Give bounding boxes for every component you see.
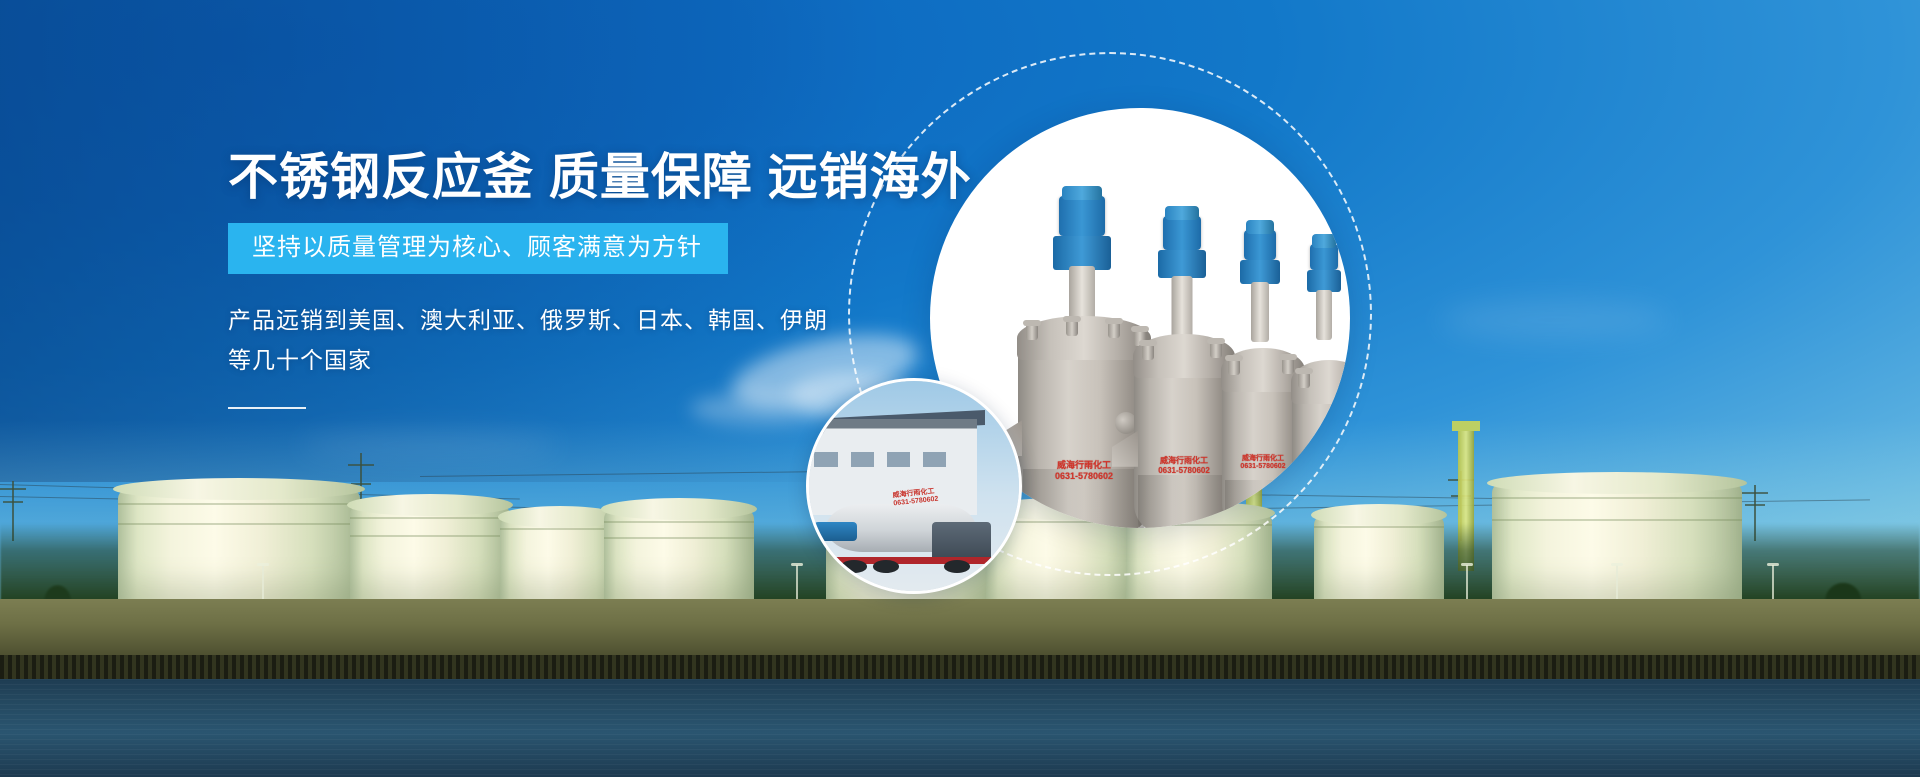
product-brand-label-2: 威海行雨化工 0631-5780602	[1134, 456, 1234, 476]
water	[0, 679, 1920, 777]
divider-rule	[228, 407, 306, 409]
cloud-icon	[1440, 300, 1670, 340]
quay-wall	[0, 655, 1920, 681]
cloud-icon	[300, 430, 560, 460]
secondary-photo-circle: 威海行雨化工 0631-5780602	[806, 378, 1022, 594]
description-line-1: 产品远销到美国、澳大利亚、俄罗斯、日本、韩国、伊朗	[228, 300, 928, 340]
product-brand-label-4: 威海行雨化工 0631-5780602	[1292, 453, 1350, 471]
banner-stage: 不锈钢反应釜 质量保障 远销海外 坚持以质量管理为核心、顾客满意为方针 产品远销…	[0, 0, 1920, 777]
page-title: 不锈钢反应釜 质量保障 远销海外	[228, 150, 928, 205]
tagline-badge: 坚持以质量管理为核心、顾客满意为方针	[228, 223, 728, 274]
banner-copy: 不锈钢反应釜 质量保障 远销海外 坚持以质量管理为核心、顾客满意为方针 产品远销…	[228, 150, 928, 409]
banner-description: 产品远销到美国、澳大利亚、俄罗斯、日本、韩国、伊朗 等几十个国家	[228, 300, 928, 381]
description-line-2: 等几十个国家	[228, 340, 928, 380]
